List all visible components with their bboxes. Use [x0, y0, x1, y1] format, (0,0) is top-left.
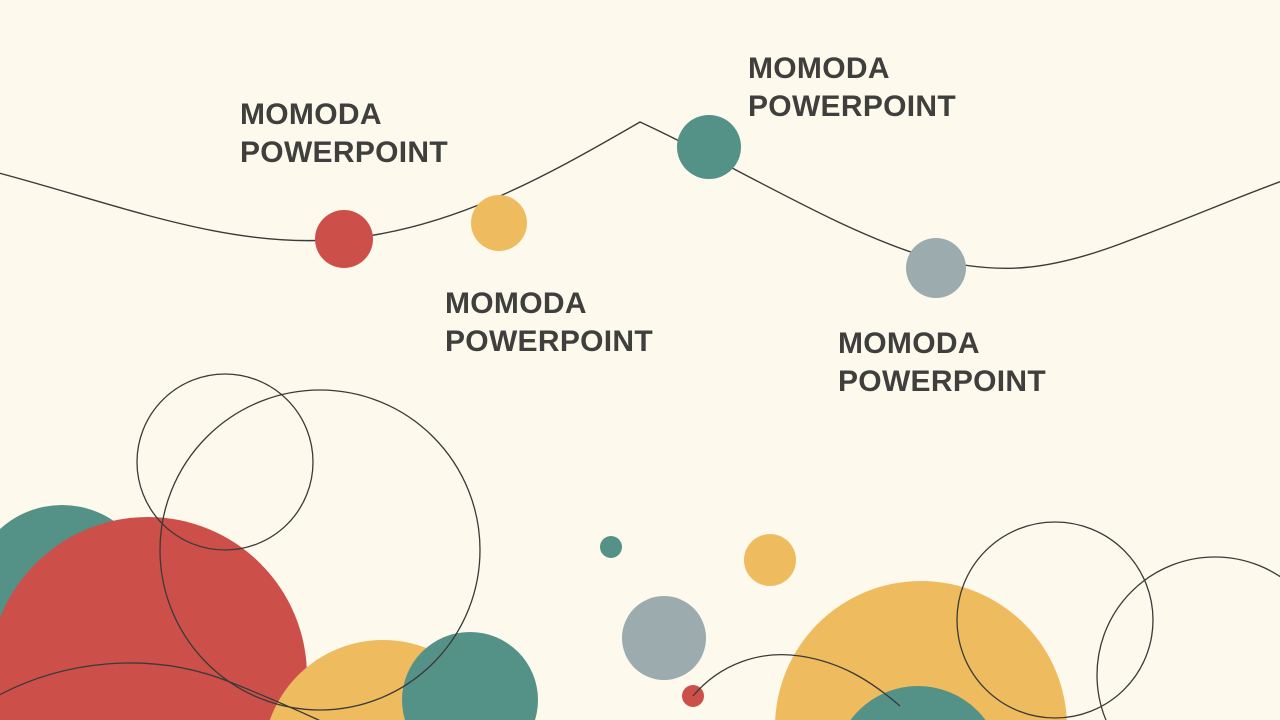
title-block-3: MOMODA POWERPOINT — [445, 285, 653, 361]
title-block-2: MOMODA POWERPOINT — [748, 50, 956, 126]
marker-circle-teal — [677, 115, 741, 179]
title-block-1: MOMODA POWERPOINT — [240, 96, 448, 172]
marker-circle-yellow — [471, 195, 527, 251]
bottom-dot-teal-small — [600, 536, 622, 558]
bottom-dot-yellow-small — [744, 534, 796, 586]
title-block-4: MOMODA POWERPOINT — [838, 325, 1046, 401]
slide-canvas-root: MOMODA POWERPOINT MOMODA POWERPOINT MOMO… — [0, 0, 1280, 720]
marker-circle-gray — [906, 238, 966, 298]
marker-circle-red — [315, 210, 373, 268]
bottom-circle-gray — [622, 596, 706, 680]
